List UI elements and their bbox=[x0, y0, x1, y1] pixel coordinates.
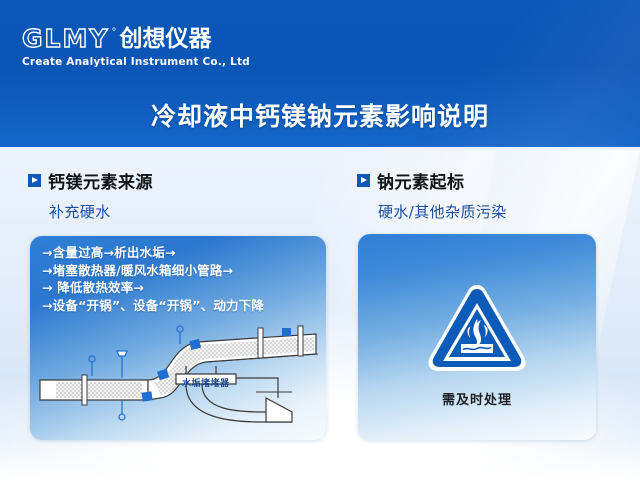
logo-tagline: Create Analytical Instrument Co., Ltd bbox=[22, 56, 250, 68]
section-subtitle: 硬水/其他杂质污染 bbox=[378, 201, 507, 222]
diagram-label: 水垢堵堵器 bbox=[182, 376, 230, 389]
section-heading-calcium-magnesium: 钙镁元素来源 补充硬水 bbox=[28, 168, 153, 222]
logo-registered-mark: ° bbox=[111, 28, 116, 38]
section-heading-sodium: 钠元素起标 硬水/其他杂质污染 bbox=[357, 168, 507, 222]
scaled-pipe-diagram: 水垢堵堵器 bbox=[30, 318, 326, 440]
consequence-chain-list: →含量过高→析出水垢→ →堵塞散热器/暖风水箱细小管路→ → 降低散热效率→ →… bbox=[42, 244, 318, 314]
right-content-card: 需及时处理 bbox=[358, 234, 596, 440]
play-square-icon bbox=[28, 174, 41, 187]
section-title: 钙镁元素来源 bbox=[48, 168, 153, 193]
warning-caption: 需及时处理 bbox=[442, 389, 512, 408]
page-title: 冷却液中钙镁钠元素影响说明 bbox=[0, 97, 640, 133]
list-item: →含量过高→析出水垢→ bbox=[42, 244, 318, 262]
play-square-icon bbox=[357, 174, 370, 187]
logo-row: GLMY ° 创想仪器 bbox=[22, 26, 250, 51]
list-item: →堵塞散热器/暖风水箱细小管路→ bbox=[42, 262, 318, 280]
left-content-card: →含量过高→析出水垢→ →堵塞散热器/暖风水箱细小管路→ → 降低散热效率→ →… bbox=[30, 236, 326, 440]
brand-logo: GLMY ° 创想仪器 Create Analytical Instrument… bbox=[22, 26, 250, 68]
section-subtitle: 补充硬水 bbox=[49, 201, 153, 222]
logo-wordmark: GLMY bbox=[22, 26, 109, 51]
list-item: →设备“开锅”、设备“开锅”、动力下降 bbox=[42, 297, 318, 315]
header-band: GLMY ° 创想仪器 Create Analytical Instrument… bbox=[0, 0, 640, 147]
slide-canvas: GLMY ° 创想仪器 Create Analytical Instrument… bbox=[0, 0, 640, 480]
flammable-warning-triangle-icon bbox=[425, 281, 529, 379]
section-heading-row: 钙镁元素来源 bbox=[28, 168, 153, 193]
logo-chinese-name: 创想仪器 bbox=[119, 28, 211, 51]
list-item: → 降低散热效率→ bbox=[42, 279, 318, 297]
section-heading-row: 钠元素起标 bbox=[357, 168, 507, 193]
section-title: 钠元素起标 bbox=[377, 168, 465, 193]
